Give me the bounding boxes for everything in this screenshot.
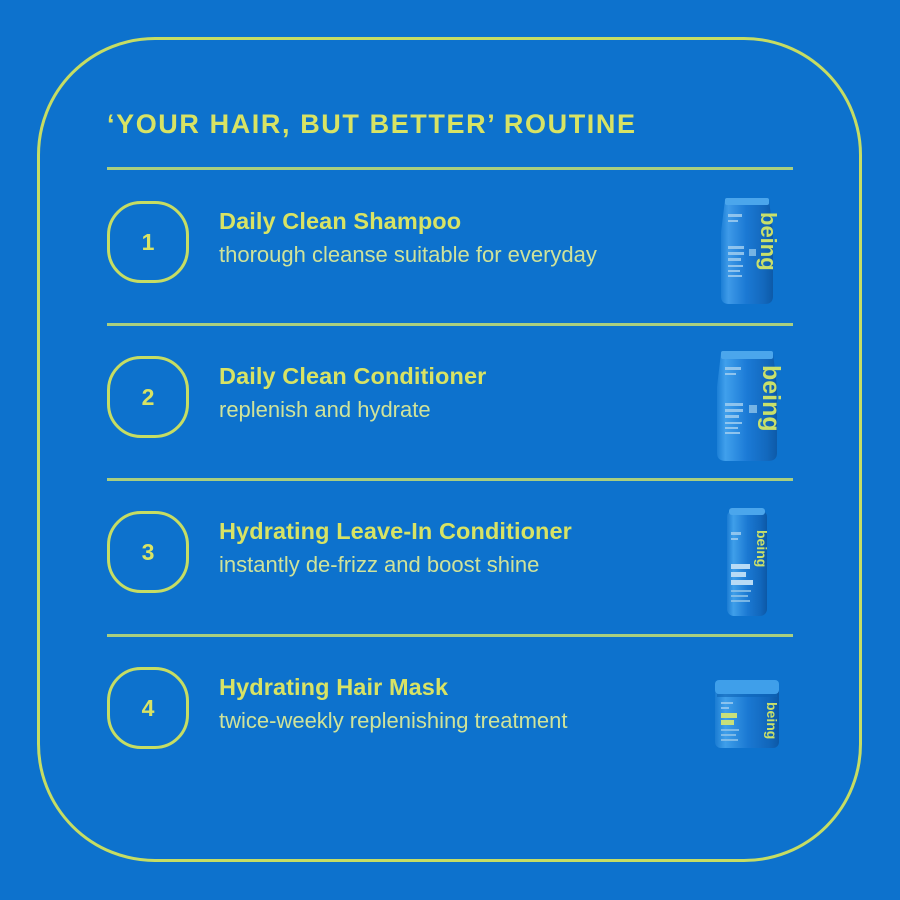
step-number-badge: 4 <box>107 667 189 749</box>
step-subtitle: replenish and hydrate <box>219 395 689 425</box>
divider-line <box>107 478 793 481</box>
step-number-badge: 2 <box>107 356 189 438</box>
step-text-block: Hydrating Hair Mask twice-weekly repleni… <box>219 672 689 736</box>
routine-poster: ‘YOUR HAIR, BUT BETTER’ ROUTINE 1 Daily … <box>0 0 900 900</box>
step-number: 1 <box>142 231 155 254</box>
routine-step: 4 Hydrating Hair Mask twice-weekly reple… <box>107 658 797 778</box>
step-title: Daily Clean Conditioner <box>219 361 689 392</box>
routine-step: 1 Daily Clean Shampoo thorough cleanse s… <box>107 192 797 312</box>
product-image-hair-mask-jar: being <box>697 658 797 776</box>
step-text-block: Daily Clean Shampoo thorough cleanse sui… <box>219 206 689 270</box>
svg-text:being: being <box>764 702 780 739</box>
product-image-leavein-bottle: being <box>697 502 797 620</box>
step-subtitle: twice-weekly replenishing treatment <box>219 706 689 736</box>
step-text-block: Hydrating Leave-In Conditioner instantly… <box>219 516 689 580</box>
divider-line <box>107 323 793 326</box>
step-subtitle: thorough cleanse suitable for everyday <box>219 240 689 270</box>
step-number: 2 <box>142 386 155 409</box>
step-number-badge: 3 <box>107 511 189 593</box>
step-number: 4 <box>142 697 155 720</box>
svg-text:being: being <box>754 530 770 567</box>
step-title: Hydrating Leave-In Conditioner <box>219 516 689 547</box>
divider-line <box>107 634 793 637</box>
svg-text:being: being <box>756 212 781 271</box>
product-image-shampoo-tube: being <box>697 192 797 310</box>
step-text-block: Daily Clean Conditioner replenish and hy… <box>219 361 689 425</box>
step-number-badge: 1 <box>107 201 189 283</box>
routine-step: 3 Hydrating Leave-In Conditioner instant… <box>107 502 797 622</box>
product-image-conditioner-tube: being <box>697 347 797 465</box>
divider-line <box>107 167 793 170</box>
page-title: ‘YOUR HAIR, BUT BETTER’ ROUTINE <box>107 107 797 141</box>
svg-text:being: being <box>757 365 785 432</box>
step-title: Daily Clean Shampoo <box>219 206 689 237</box>
routine-step: 2 Daily Clean Conditioner replenish and … <box>107 347 797 467</box>
step-subtitle: instantly de-frizz and boost shine <box>219 550 689 580</box>
step-number: 3 <box>142 541 155 564</box>
step-title: Hydrating Hair Mask <box>219 672 689 703</box>
